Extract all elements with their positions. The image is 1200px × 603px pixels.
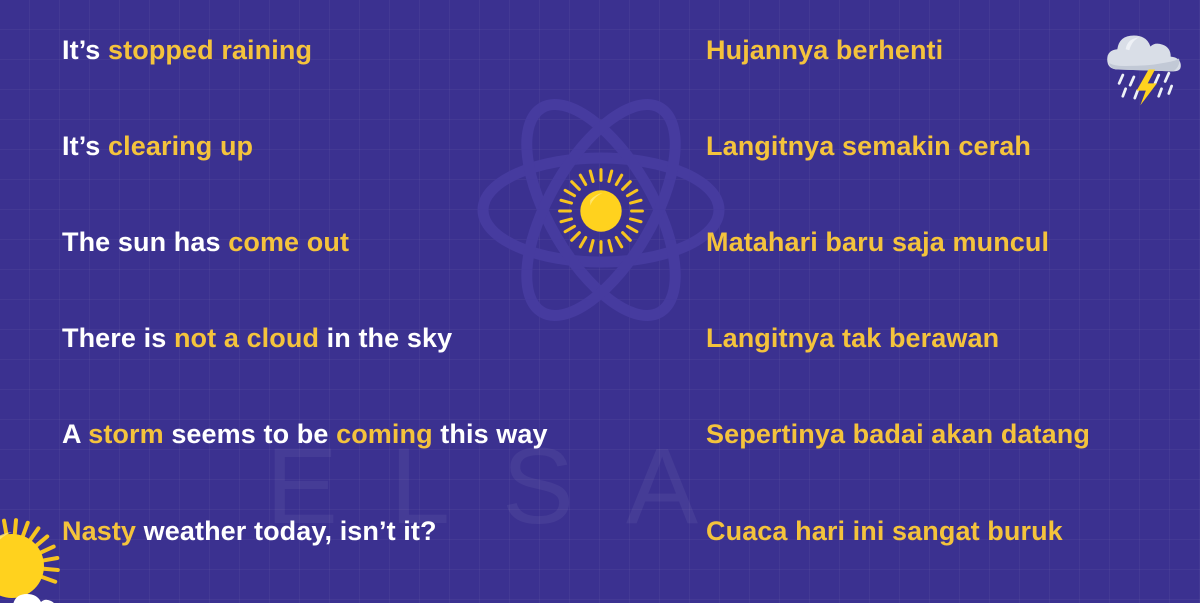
- phrase-english: It’s stopped raining: [62, 35, 312, 66]
- phrase-plain: It’s: [62, 131, 108, 161]
- phrase-highlight: storm: [88, 419, 164, 449]
- phrase-english: Nasty weather today, isn’t it?: [62, 516, 437, 547]
- phrase-row: A storm seems to be coming this waySeper…: [0, 414, 1200, 454]
- phrase-row: It’s clearing upLangitnya semakin cerah: [0, 126, 1200, 166]
- phrase-list: It’s stopped rainingHujannya berhentiIt’…: [0, 0, 1200, 603]
- phrase-plain: A: [62, 419, 88, 449]
- phrase-plain: in the sky: [319, 323, 452, 353]
- phrase-indonesian: Langitnya semakin cerah: [706, 131, 1031, 162]
- phrase-row: The sun has come outMatahari baru saja m…: [0, 222, 1200, 262]
- phrase-row: Nasty weather today, isn’t it?Cuaca hari…: [0, 511, 1200, 551]
- phrase-plain: ’s: [79, 35, 108, 65]
- slide-canvas: ELSA: [0, 0, 1200, 603]
- phrase-plain: It: [62, 35, 79, 65]
- phrase-indonesian: Hujannya berhenti: [706, 35, 943, 66]
- phrase-indonesian: Sepertinya badai akan datang: [706, 419, 1090, 450]
- phrase-indonesian: Langitnya tak berawan: [706, 323, 999, 354]
- phrase-english: It’s clearing up: [62, 131, 253, 162]
- phrase-plain: weather today, isn’t it?: [136, 516, 437, 546]
- phrase-english: A storm seems to be coming this way: [62, 419, 548, 450]
- phrase-plain: seems to be: [164, 419, 336, 449]
- phrase-highlight: clearing up: [108, 131, 253, 161]
- phrase-english: The sun has come out: [62, 227, 349, 258]
- phrase-row: There is not a cloud in the skyLangitnya…: [0, 318, 1200, 358]
- phrase-indonesian: Matahari baru saja muncul: [706, 227, 1049, 258]
- phrase-plain: There is: [62, 323, 174, 353]
- phrase-highlight: come out: [228, 227, 349, 257]
- phrase-highlight: not a cloud: [174, 323, 319, 353]
- phrase-highlight: coming: [336, 419, 433, 449]
- phrase-row: It’s stopped rainingHujannya berhenti: [0, 30, 1200, 70]
- phrase-plain: The sun has: [62, 227, 228, 257]
- phrase-highlight: stopped raining: [108, 35, 312, 65]
- phrase-plain: this way: [433, 419, 548, 449]
- phrase-english: There is not a cloud in the sky: [62, 323, 452, 354]
- phrase-highlight: Nasty: [62, 516, 136, 546]
- phrase-indonesian: Cuaca hari ini sangat buruk: [706, 516, 1063, 547]
